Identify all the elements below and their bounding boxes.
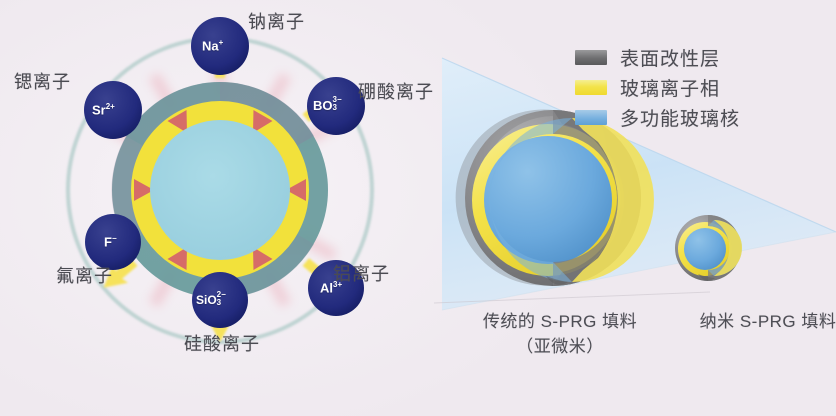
caption-nano-filler: 纳米 S-PRG 填料 — [688, 310, 836, 335]
legend-item-surface-modification-layer[interactable]: 表面改性层 — [575, 42, 740, 72]
legend-swatch-yellow — [575, 80, 607, 95]
diagram-canvas: Na+ BO3−3 Al3+ SiO2−3 F− Sr2+ 钠离子 硼酸离子 铝… — [0, 0, 836, 416]
legend-label-surface-modification-layer: 表面改性层 — [620, 44, 720, 71]
caption-conventional-main: 传统的 S-PRG 填料 — [425, 310, 695, 335]
ion-bubble-borate[interactable] — [307, 77, 365, 135]
conventional-glass-core — [484, 136, 612, 264]
ion-bubble-sodium[interactable] — [191, 17, 249, 75]
nano-glass-core — [684, 228, 726, 270]
legend-label-multifunctional-glass-core: 多功能玻璃核 — [620, 104, 740, 131]
legend-swatch-blue — [575, 110, 607, 125]
ion-release-diagram: Na+ BO3−3 Al3+ SiO2−3 F− Sr2+ 钠离子 硼酸离子 铝… — [0, 0, 440, 416]
ion-bubble-strontium[interactable] — [84, 81, 142, 139]
sprg-particle — [112, 82, 328, 298]
legend-item-glass-ionomer-phase[interactable]: 玻璃离子相 — [575, 72, 740, 102]
filler-legend: 表面改性层 玻璃离子相 多功能玻璃核 — [575, 42, 740, 132]
particle-glass-core — [150, 120, 290, 260]
caption-conventional-sub: （亚微米） — [425, 335, 695, 360]
conventional-filler-sphere — [456, 110, 654, 287]
ion-bubble-silicate[interactable] — [192, 272, 248, 328]
ion-label-aluminium: 铝离子 — [333, 260, 390, 286]
filler-comparison-panel: 表面改性层 玻璃离子相 多功能玻璃核 传统的 S-PRG 填料 （亚微米） 纳米… — [420, 0, 836, 416]
ion-label-sodium: 钠离子 — [248, 8, 305, 34]
legend-item-multifunctional-glass-core[interactable]: 多功能玻璃核 — [575, 102, 740, 132]
ion-label-silicate: 硅酸离子 — [184, 330, 260, 356]
caption-conventional-filler: 传统的 S-PRG 填料 （亚微米） — [425, 310, 695, 359]
legend-label-glass-ionomer-phase: 玻璃离子相 — [620, 74, 720, 101]
ion-label-strontium: 锶离子 — [14, 68, 71, 94]
legend-swatch-gray — [575, 50, 607, 65]
ion-label-fluoride: 氟离子 — [56, 262, 113, 288]
caption-nano-main: 纳米 S-PRG 填料 — [688, 310, 836, 335]
